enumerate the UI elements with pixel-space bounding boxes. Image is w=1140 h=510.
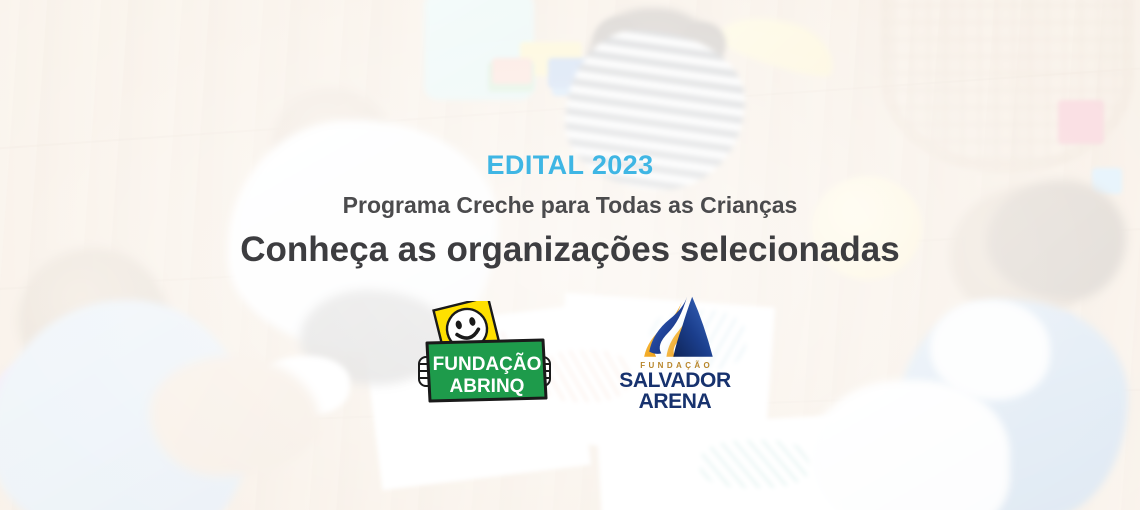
logo-fundacao-salvador-arena[interactable]: FUNDAÇÃO SALVADOR ARENA — [615, 295, 735, 413]
program-subtitle: Programa Creche para Todas as Crianças — [343, 194, 798, 217]
banner-content: EDITAL 2023 Programa Creche para Todas a… — [0, 0, 1140, 510]
salvador-arena-line-2: ARENA — [639, 391, 712, 412]
edital-banner: EDITAL 2023 Programa Creche para Todas a… — [0, 0, 1140, 510]
page-title: Conheça as organizações selecionadas — [240, 232, 899, 269]
logo-row: FUNDAÇÃO ABRINQ — [405, 295, 735, 413]
logo-fundacao-abrinq[interactable]: FUNDAÇÃO ABRINQ — [405, 301, 565, 406]
edital-kicker: EDITAL 2023 — [487, 152, 654, 179]
abrinq-line-1: FUNDAÇÃO — [433, 353, 542, 375]
salvador-arena-line-1: SALVADOR — [619, 370, 731, 391]
abrinq-logo-graphic: FUNDAÇÃO ABRINQ — [405, 301, 565, 406]
abrinq-line-2: ABRINQ — [450, 376, 525, 397]
salvador-arena-sail-icon — [623, 295, 727, 360]
